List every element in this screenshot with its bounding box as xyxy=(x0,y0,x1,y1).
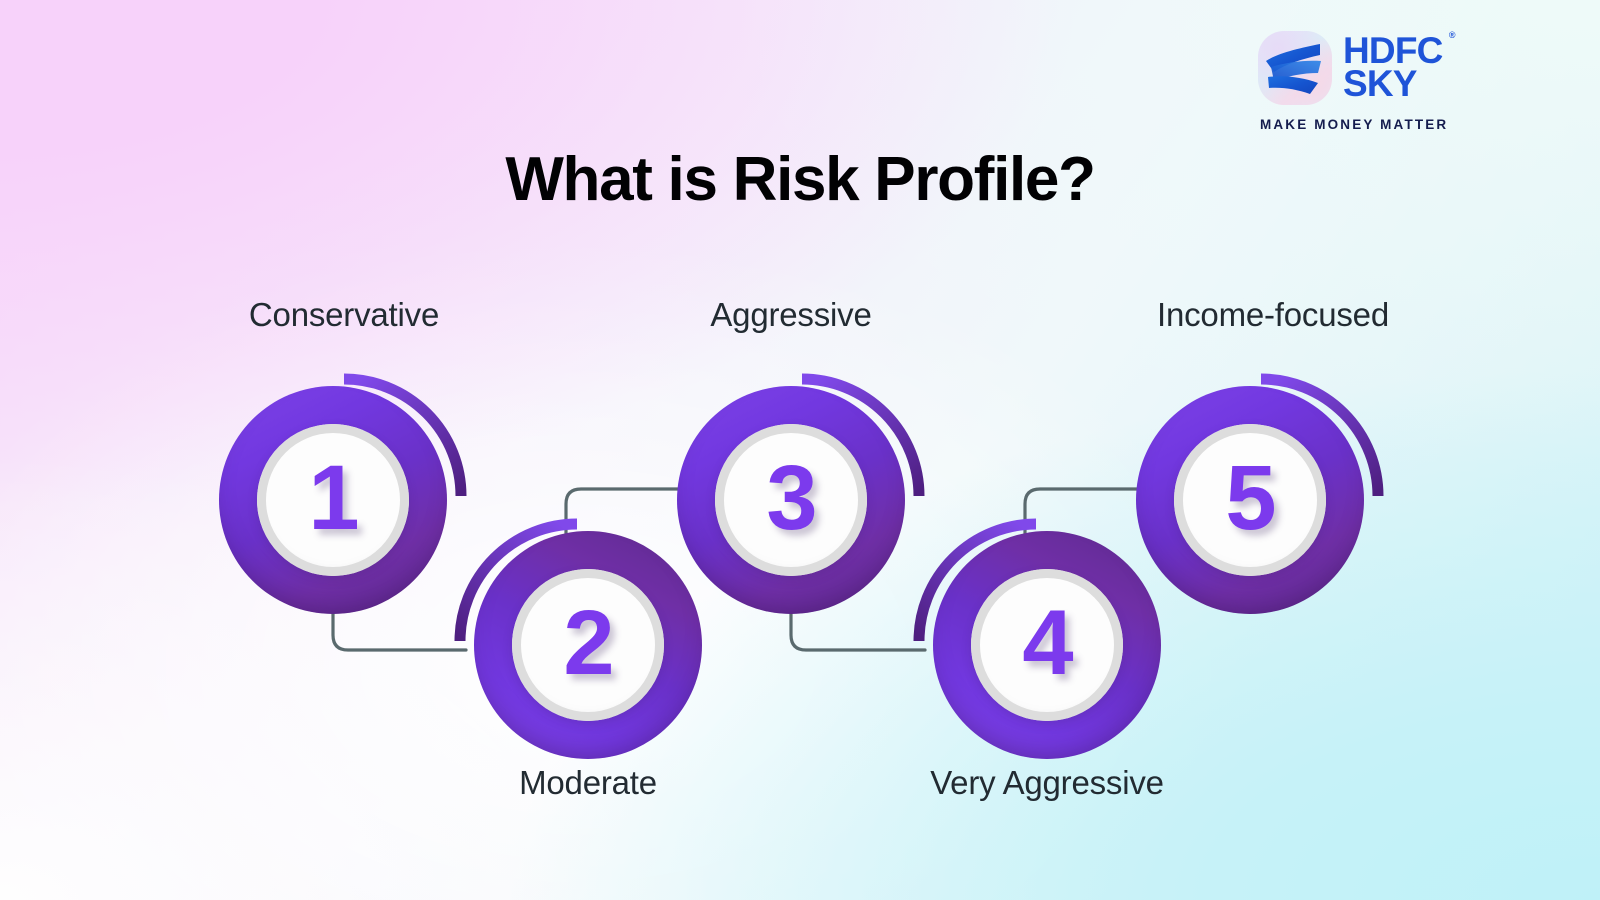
step-inner-circle-1: 1 xyxy=(257,424,409,576)
step-ring-5: 5 xyxy=(1136,386,1364,614)
risk-profile-diagram: 1 Conservative 2 Moderate xyxy=(0,0,1600,900)
step-label-5: Income-focused xyxy=(1013,296,1533,334)
step-node-3[interactable]: 3 Aggressive xyxy=(677,371,927,621)
step-label-2: Moderate xyxy=(328,764,848,802)
step-number-5: 5 xyxy=(1225,452,1274,544)
step-node-1[interactable]: 1 Conservative xyxy=(219,371,469,621)
step-ring-2: 2 xyxy=(474,531,702,759)
step-number-3: 3 xyxy=(766,452,815,544)
step-inner-circle-3: 3 xyxy=(715,424,867,576)
step-ring-1: 1 xyxy=(219,386,447,614)
step-number-4: 4 xyxy=(1022,597,1071,689)
step-number-2: 2 xyxy=(563,597,612,689)
step-inner-circle-2: 2 xyxy=(512,569,664,721)
step-inner-circle-5: 5 xyxy=(1174,424,1326,576)
step-number-1: 1 xyxy=(308,452,357,544)
step-ring-4: 4 xyxy=(933,531,1161,759)
step-label-1: Conservative xyxy=(84,296,604,334)
step-ring-3: 3 xyxy=(677,386,905,614)
step-inner-circle-4: 4 xyxy=(971,569,1123,721)
step-label-4: Very Aggressive xyxy=(787,764,1307,802)
step-label-3: Aggressive xyxy=(531,296,1051,334)
step-node-2[interactable]: 2 Moderate xyxy=(452,516,702,766)
step-node-5[interactable]: 5 Income-focused xyxy=(1136,371,1386,621)
step-node-4[interactable]: 4 Very Aggressive xyxy=(911,516,1161,766)
